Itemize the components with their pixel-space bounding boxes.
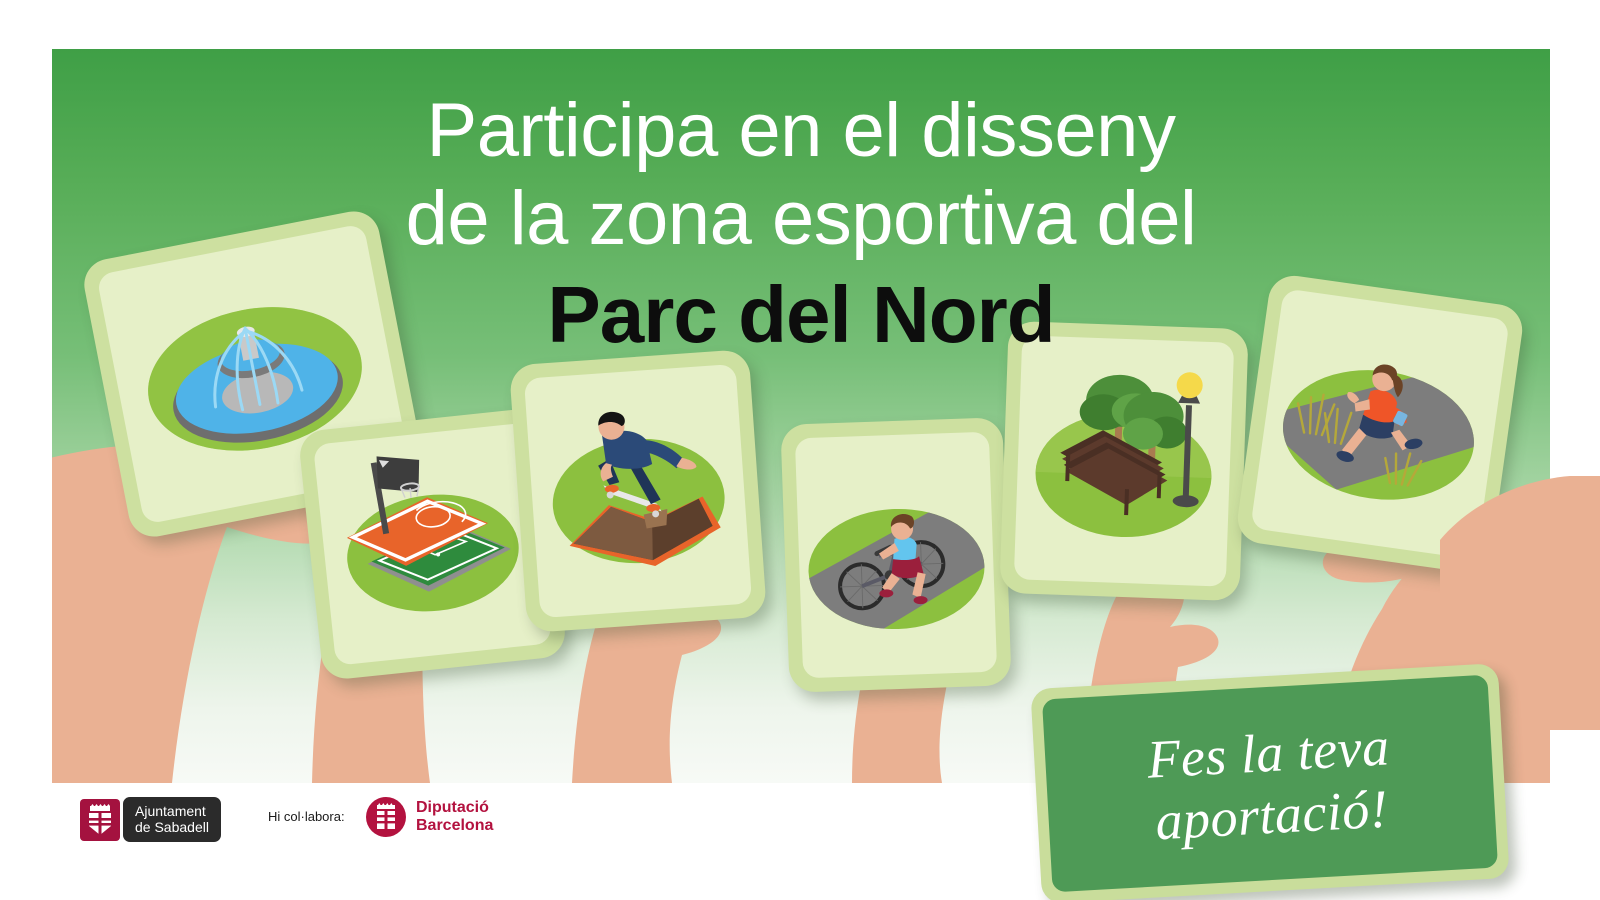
card-bike-art <box>795 432 997 679</box>
ajuntament-wordmark: Ajuntament de Sabadell <box>123 797 221 842</box>
card-skate[interactable] <box>509 349 767 633</box>
cta-inner: Fes la teva aportació! <box>1042 675 1498 893</box>
crest-glyph <box>86 804 114 836</box>
cta-text: Fes la teva aportació! <box>1146 715 1395 852</box>
ajuntament-logo[interactable]: Ajuntament de Sabadell <box>80 797 221 842</box>
cta-line-2: aportació! <box>1149 777 1395 852</box>
ajuntament-line-1: Ajuntament <box>135 803 209 819</box>
diputacio-logo[interactable]: Diputació Barcelona <box>366 797 493 837</box>
card-bench[interactable] <box>999 321 1248 601</box>
sabadell-crest-icon <box>80 799 120 841</box>
cta-card[interactable]: Fes la teva aportació! <box>1030 663 1509 900</box>
bench-illustration <box>1014 335 1234 586</box>
bike-illustration <box>795 432 997 679</box>
diputacio-line-1: Diputació <box>416 799 493 817</box>
collaborate-label: Hi col·labora: <box>268 809 345 824</box>
card-bike[interactable] <box>780 417 1011 693</box>
ajuntament-line-2: de Sabadell <box>135 819 209 835</box>
diputacio-line-2: Barcelona <box>416 817 493 835</box>
skate-illustration <box>524 364 752 618</box>
diputacio-wordmark: Diputació Barcelona <box>416 799 493 835</box>
card-bench-art <box>1014 335 1234 586</box>
poster-root: Participa en el disseny de la zona espor… <box>0 0 1600 900</box>
card-skate-art <box>524 364 752 618</box>
diputacio-crest-glyph <box>373 803 399 831</box>
diputacio-crest-icon <box>366 797 406 837</box>
